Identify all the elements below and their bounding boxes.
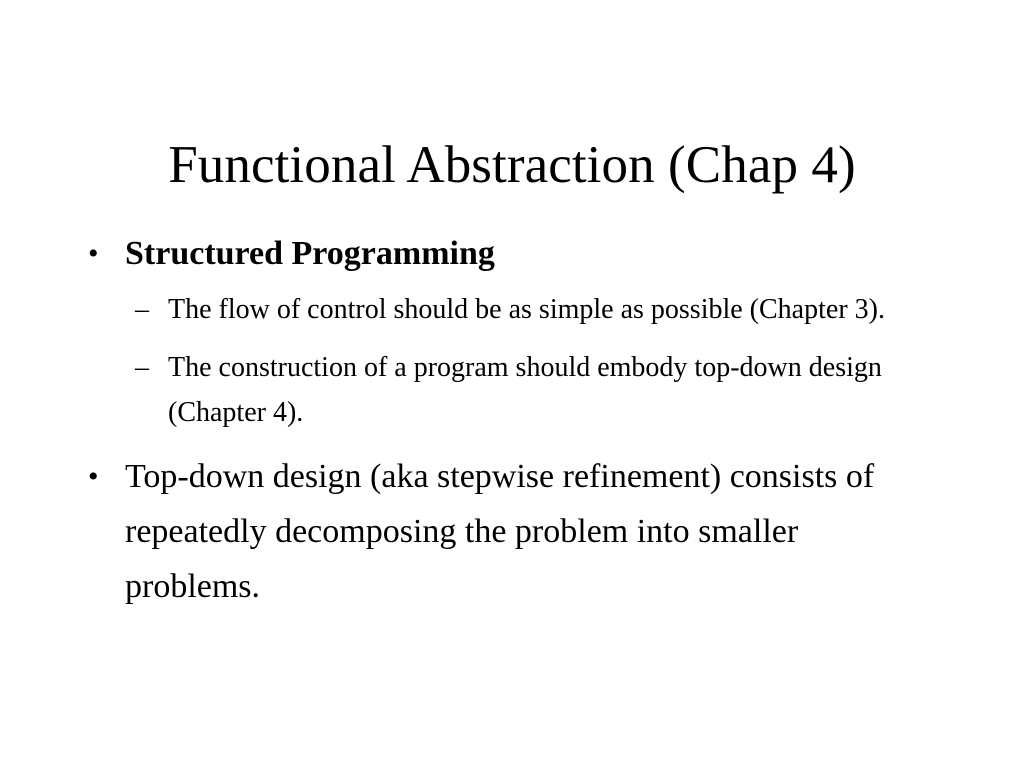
bullet-marker-dash-icon: – (135, 287, 149, 332)
bullet-text: Structured Programming (125, 226, 937, 281)
bullet-item-level2: – The flow of control should be as simpl… (135, 287, 950, 332)
bullet-marker-dot-icon: • (88, 226, 99, 281)
bullet-marker-dash-icon: – (135, 345, 149, 390)
spacer (80, 435, 950, 449)
bullet-marker-dot-icon: • (88, 449, 99, 504)
bullet-text: The flow of control should be as simple … (168, 287, 913, 332)
sub-bullet-group: – The flow of control should be as simpl… (80, 287, 950, 435)
bullet-item-level1: • Structured Programming (80, 226, 950, 281)
bullet-text: The construction of a program should emb… (168, 345, 913, 435)
slide-title: Functional Abstraction (Chap 4) (60, 134, 964, 196)
presentation-slide: Functional Abstraction (Chap 4) • Struct… (0, 0, 1024, 768)
bullet-text: Top-down design (aka stepwise refinement… (125, 449, 937, 614)
bullet-item-level1: • Top-down design (aka stepwise refineme… (80, 449, 950, 614)
spacer (80, 332, 950, 345)
slide-body: • Structured Programming – The flow of c… (80, 226, 950, 614)
bullet-item-level2: – The construction of a program should e… (135, 345, 950, 435)
